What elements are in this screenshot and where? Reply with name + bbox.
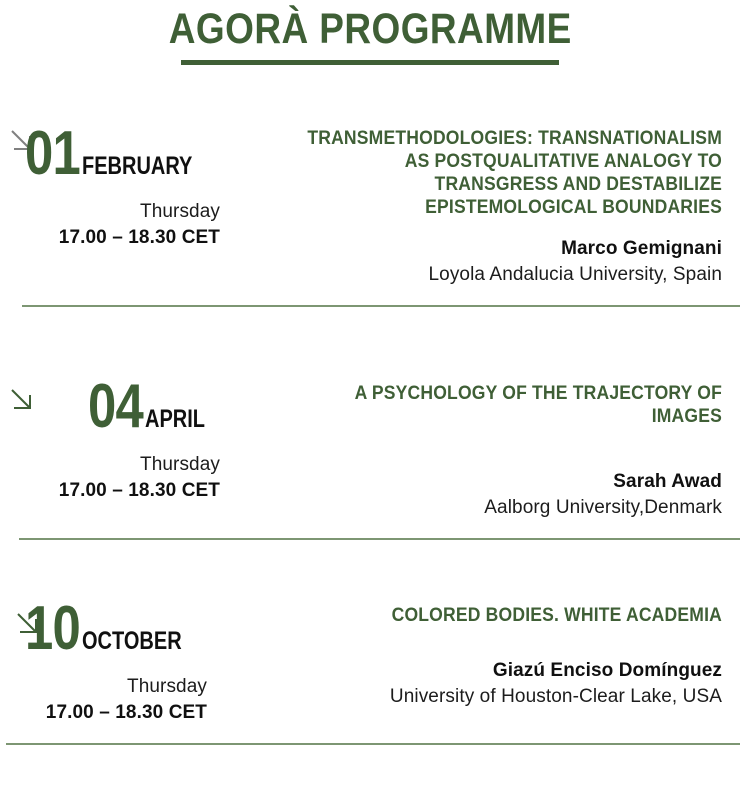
entry-month-name: APRIL bbox=[145, 407, 205, 432]
entry-weekday: Thursday bbox=[0, 674, 207, 700]
entry-speaker-name: Giazú Enciso Domínguez bbox=[255, 658, 722, 684]
entry-speaker-name: Sarah Awad bbox=[255, 469, 722, 495]
entry-date-column: 01 FEBRUARY Thursday 17.00 – 18.30 CET bbox=[0, 123, 245, 251]
entry-date-column: 10 OCTOBER Thursday 17.00 – 18.30 CET bbox=[0, 598, 245, 726]
title-underline-rule bbox=[181, 60, 559, 65]
entry-day-number: 01 bbox=[25, 123, 80, 185]
entry-timeslot: 17.00 – 18.30 CET bbox=[0, 700, 207, 726]
entry-divider bbox=[19, 538, 740, 540]
entry-weekday: Thursday bbox=[0, 452, 220, 478]
entry-day-number: 04 bbox=[88, 376, 143, 438]
entry-timeslot: 17.00 – 18.30 CET bbox=[0, 225, 220, 251]
entry-date-column: 04 APRIL Thursday 17.00 – 18.30 CET bbox=[0, 376, 245, 504]
entry-speaker-affiliation: Loyola Andalucia University, Spain bbox=[255, 262, 722, 288]
entry-talk-title: TRANSMETHODOLOGIES: TRANSNATIONALISM AS … bbox=[302, 127, 722, 219]
programme-entry: 04 APRIL Thursday 17.00 – 18.30 CET A PS… bbox=[0, 376, 740, 529]
programme-entry: 10 OCTOBER Thursday 17.00 – 18.30 CET CO… bbox=[0, 598, 740, 734]
entry-date-line: 10 OCTOBER bbox=[0, 598, 207, 660]
entry-talk-column: A PSYCHOLOGY OF THE TRAJECTORY OF IMAGES… bbox=[245, 376, 740, 521]
entry-month-name: FEBRUARY bbox=[82, 154, 192, 179]
entry-talk-title: A PSYCHOLOGY OF THE TRAJECTORY OF IMAGES bbox=[302, 382, 722, 428]
entry-date-line: 04 APRIL bbox=[0, 376, 220, 438]
entry-talk-column: TRANSMETHODOLOGIES: TRANSNATIONALISM AS … bbox=[245, 123, 740, 288]
entry-speaker-affiliation: University of Houston-Clear Lake, USA bbox=[255, 684, 722, 710]
entry-speaker-affiliation: Aalborg University,Denmark bbox=[255, 495, 722, 521]
entry-date-line: 01 FEBRUARY bbox=[0, 123, 220, 185]
entry-day-number: 10 bbox=[26, 598, 81, 660]
entry-month-name: OCTOBER bbox=[82, 629, 182, 654]
entry-weekday: Thursday bbox=[0, 199, 220, 225]
entry-divider bbox=[6, 743, 740, 745]
entry-talk-column: COLORED BODIES. WHITE ACADEMIA Giazú Enc… bbox=[245, 598, 740, 710]
page-title: AGORÀ PROGRAMME bbox=[167, 8, 573, 51]
entry-divider bbox=[22, 305, 740, 307]
page-header: AGORÀ PROGRAMME bbox=[0, 0, 740, 65]
entry-talk-title: COLORED BODIES. WHITE ACADEMIA bbox=[302, 604, 722, 627]
programme-entry: 01 FEBRUARY Thursday 17.00 – 18.30 CET T… bbox=[0, 123, 740, 296]
programme-list: 01 FEBRUARY Thursday 17.00 – 18.30 CET T… bbox=[0, 123, 740, 745]
entry-timeslot: 17.00 – 18.30 CET bbox=[0, 478, 220, 504]
entry-speaker-name: Marco Gemignani bbox=[255, 236, 722, 262]
